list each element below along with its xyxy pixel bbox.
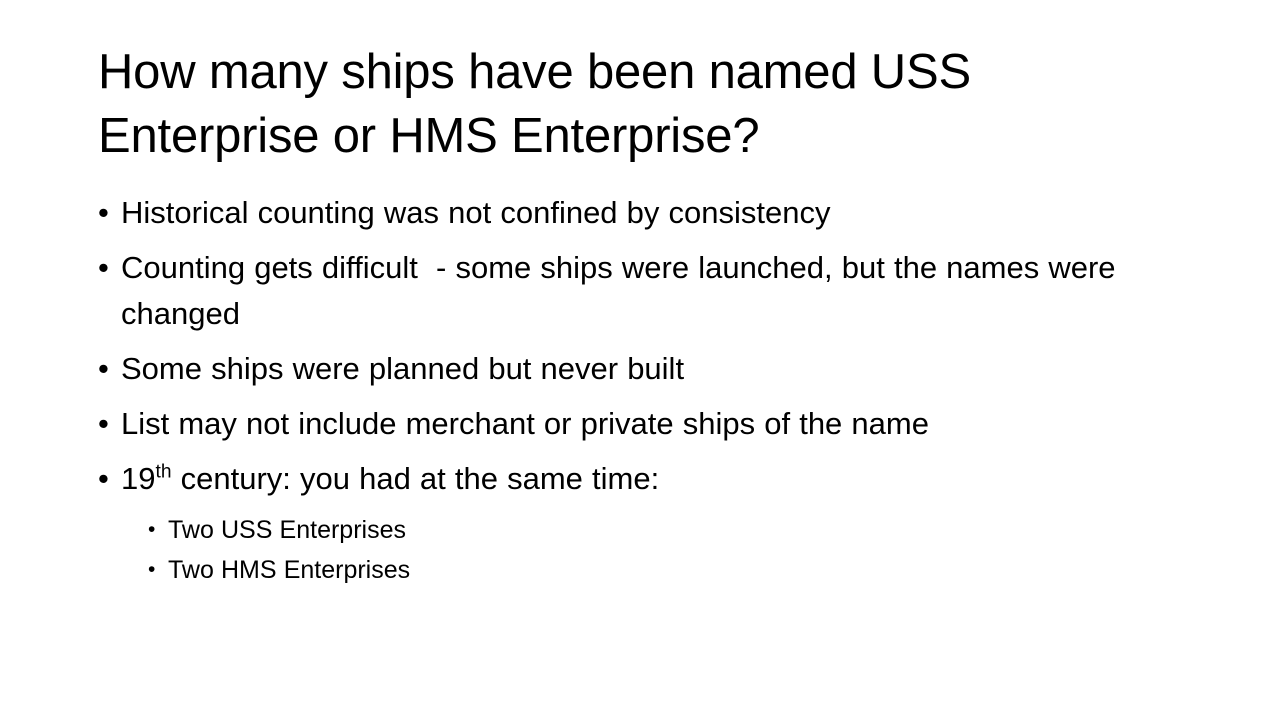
bullet-text-suffix: century: you had at the same time: (172, 461, 660, 496)
bullet-item: • 19th century: you had at the same time… (98, 456, 1158, 502)
bullet-dot-icon: • (148, 511, 168, 549)
bullet-dot-icon: • (98, 245, 121, 291)
bullet-text: List may not include merchant or private… (121, 401, 1158, 447)
slide-title-line-1: How many ships have been named USS (98, 40, 1188, 104)
bullet-text: Historical counting was not confined by … (121, 190, 1158, 236)
bullet-text-prefix: 19 (121, 461, 155, 496)
bullet-dot-icon: • (148, 551, 168, 589)
bullet-item: • Historical counting was not confined b… (98, 190, 1158, 236)
slide-body: • Historical counting was not confined b… (98, 190, 1158, 591)
bullet-item: • List may not include merchant or priva… (98, 401, 1158, 447)
sub-bullet-item: • Two HMS Enterprises (98, 551, 1158, 589)
bullet-dot-icon: • (98, 346, 121, 392)
ordinal-suffix: th (155, 462, 171, 483)
sub-bullet-text: Two HMS Enterprises (168, 551, 1158, 589)
bullet-dot-icon: • (98, 401, 121, 447)
slide-title: How many ships have been named USS Enter… (98, 40, 1188, 168)
bullet-text: 19th century: you had at the same time: (121, 456, 1158, 502)
slide-canvas: How many ships have been named USS Enter… (0, 0, 1280, 720)
sub-bullet-item: • Two USS Enterprises (98, 511, 1158, 549)
bullet-dot-icon: • (98, 456, 121, 502)
bullet-item: • Some ships were planned but never buil… (98, 346, 1158, 392)
bullet-text: Some ships were planned but never built (121, 346, 1158, 392)
slide-title-line-2: Enterprise or HMS Enterprise? (98, 104, 1188, 168)
sub-bullet-text: Two USS Enterprises (168, 511, 1158, 549)
bullet-item: • Counting gets difficult - some ships w… (98, 245, 1158, 337)
bullet-dot-icon: • (98, 190, 121, 236)
bullet-text: Counting gets difficult - some ships wer… (121, 245, 1158, 337)
